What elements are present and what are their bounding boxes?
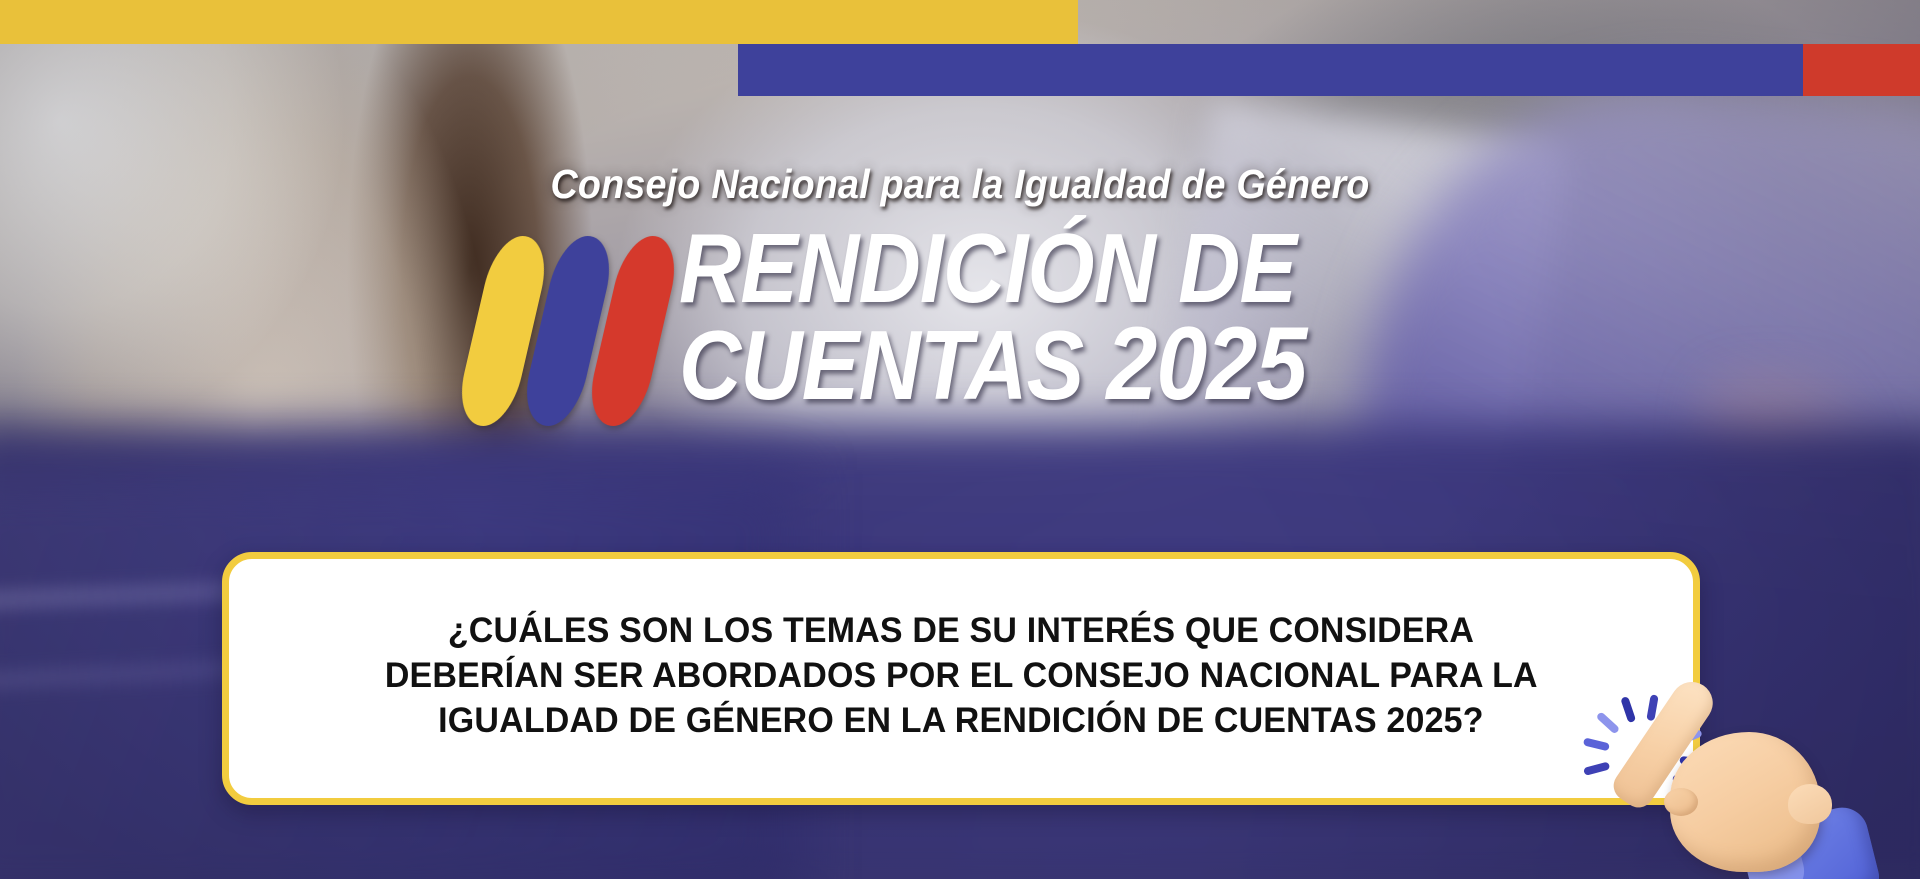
title-line-two: CUENTAS 2025 (679, 318, 1306, 412)
question-line-1: ¿CUÁLES SON LOS TEMAS DE SU INTERÉS QUE … (448, 609, 1474, 654)
blue-ribbon (738, 44, 1803, 96)
question-line-3: IGUALDAD DE GÉNERO EN LA RENDICIÓN DE CU… (438, 699, 1483, 744)
ecuador-flag-stripes-icon (470, 236, 665, 426)
institution-name: Consejo Nacional para la Igualdad de Gén… (77, 161, 1843, 208)
poster-canvas: Consejo Nacional para la Igualdad de Gén… (0, 0, 1920, 879)
title-year: 2025 (1106, 306, 1306, 422)
red-ribbon (1803, 44, 1920, 96)
title-text-stack: RENDICIÓN DE CUENTAS 2025 (679, 224, 1392, 412)
question-line-2: DEBERÍAN SER ABORDADOS POR EL CONSEJO NA… (385, 654, 1538, 699)
question-card-inner: ¿CUÁLES SON LOS TEMAS DE SU INTERÉS QUE … (229, 559, 1693, 798)
question-card[interactable]: ¿CUÁLES SON LOS TEMAS DE SU INTERÉS QUE … (222, 552, 1700, 805)
title-line-one: RENDICIÓN DE (679, 224, 1306, 312)
title-block: RENDICIÓN DE CUENTAS 2025 (470, 228, 1392, 426)
yellow-ribbon (0, 0, 1078, 44)
title-word-cuentas: CUENTAS (679, 310, 1083, 420)
